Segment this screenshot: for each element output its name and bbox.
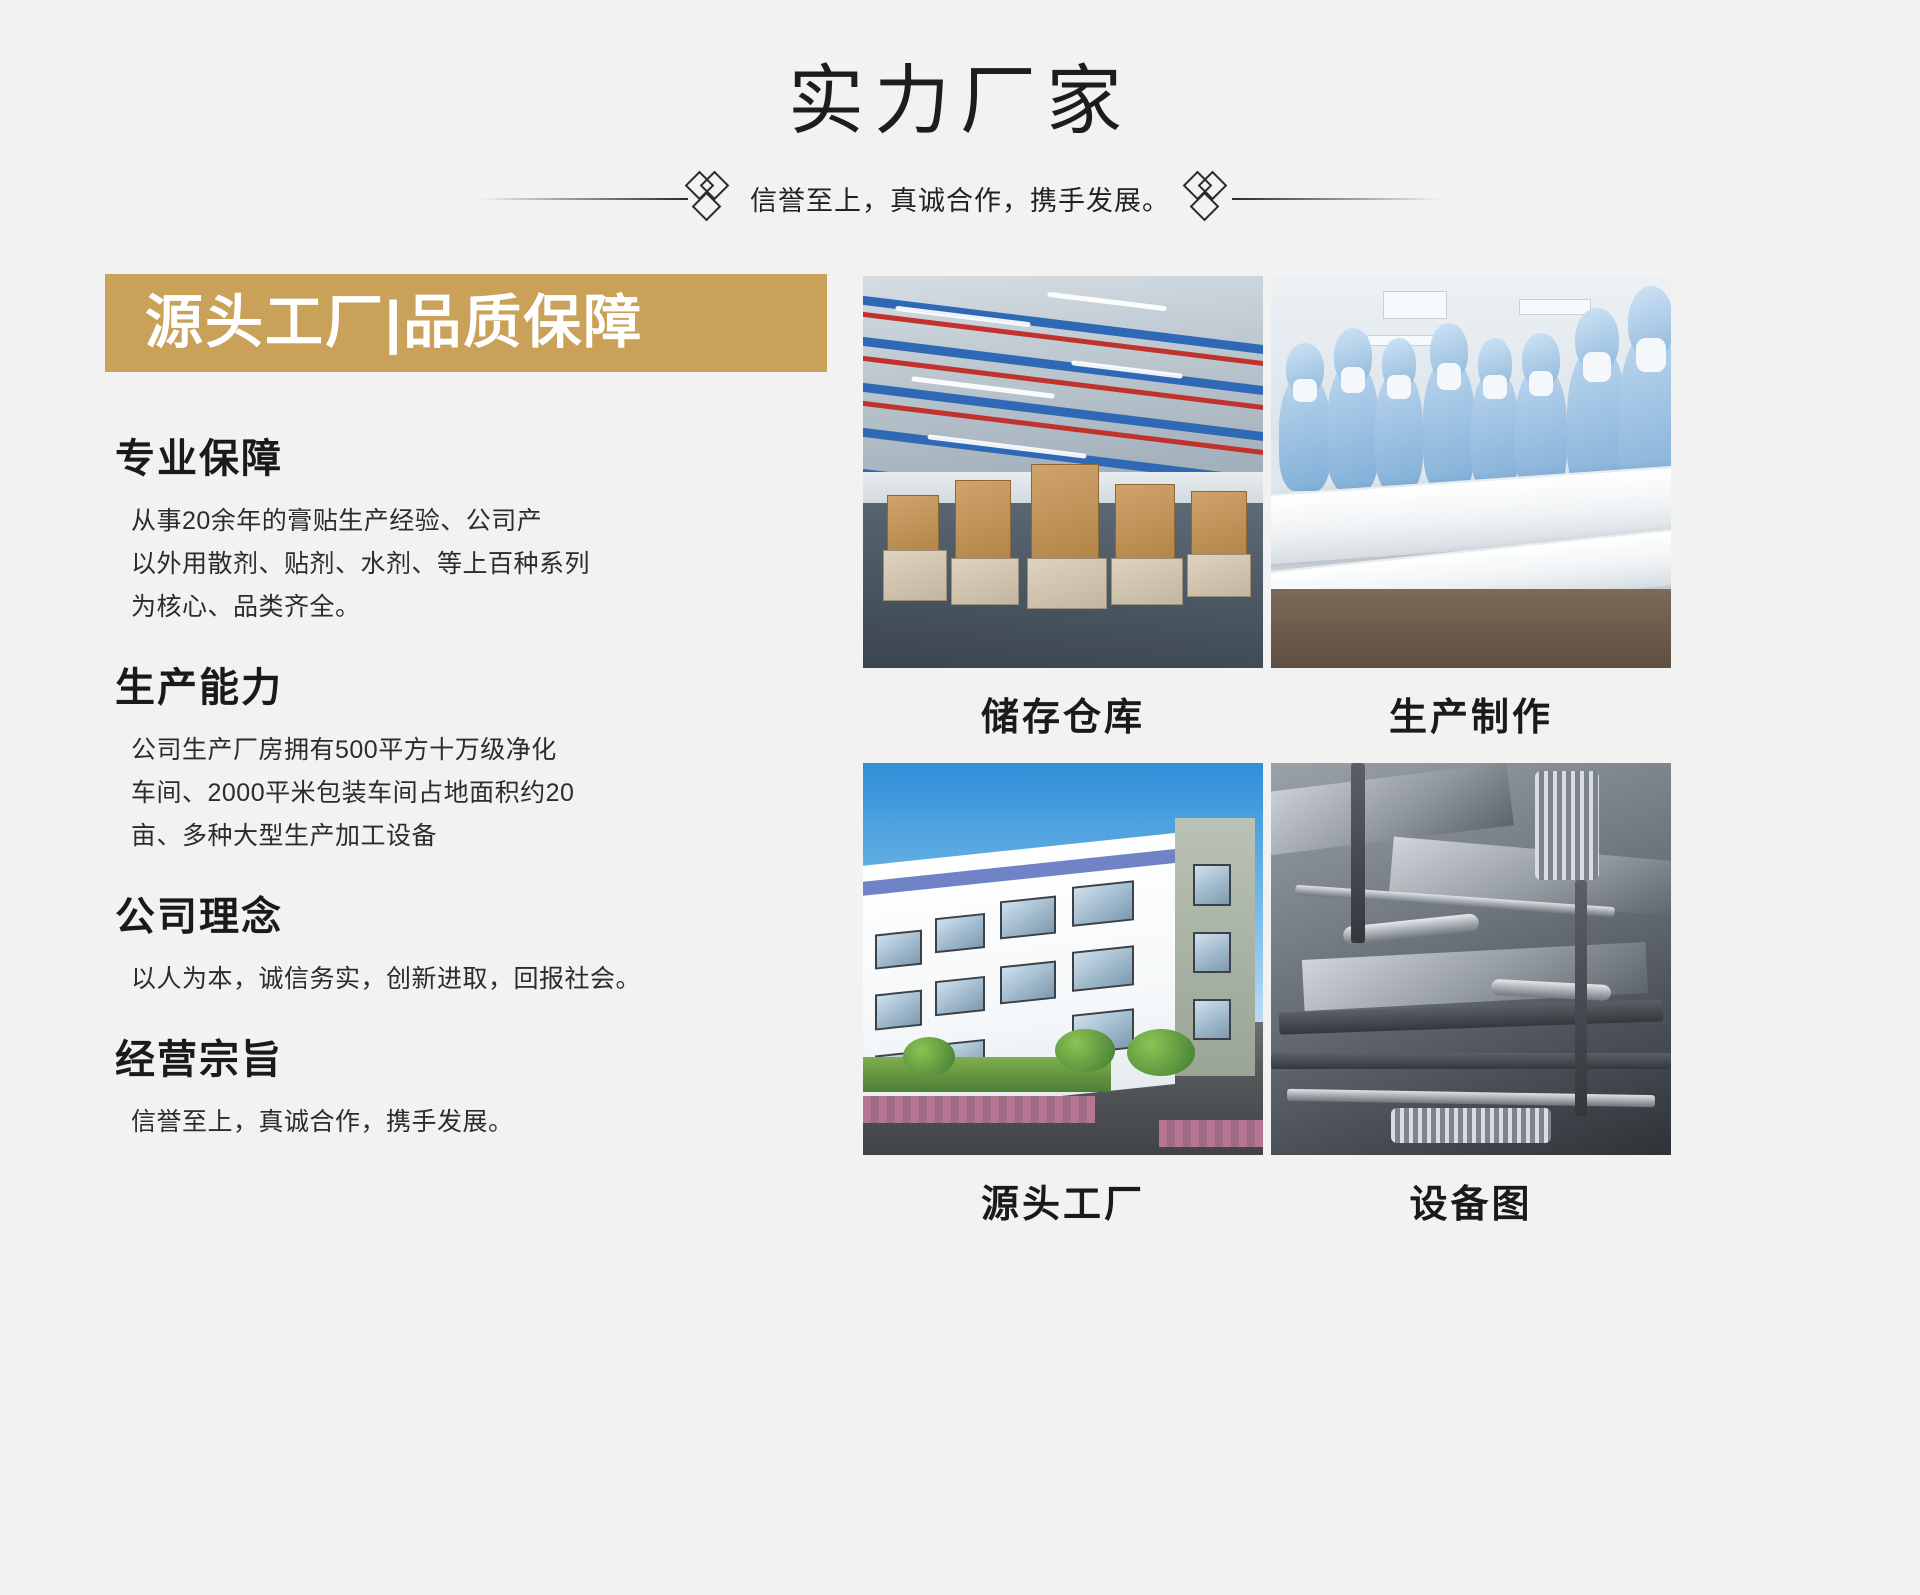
page-title: 实力厂家 (0, 62, 1920, 142)
photo-cell-warehouse: 储存仓库 (863, 276, 1263, 741)
warehouse-photo (863, 276, 1263, 668)
page-header: 实力厂家 信誉至上，真诚合作，携手发展。 (0, 0, 1920, 226)
gold-banner: 源头工厂|品质保障 (105, 274, 827, 372)
divider-right-rule (1232, 198, 1442, 200)
section-line: 从事20余年的膏贴生产经验、公司产 (131, 500, 835, 543)
section-line: 以外用散剂、贴剂、水剂、等上百种系列 (131, 543, 835, 586)
section-body: 信誉至上，真诚合作，携手发展。 (131, 1101, 835, 1144)
divider-left-rule (478, 198, 688, 200)
production-floor (1271, 589, 1671, 667)
section-line: 信誉至上，真诚合作，携手发展。 (131, 1101, 835, 1144)
section-heading: 专业保障 (115, 434, 835, 484)
section-body: 以人为本，诚信务实，创新进取，回报社会。 (131, 958, 835, 1001)
photo-cell-production: 生产制作 (1271, 276, 1671, 741)
section-body: 从事20余年的膏贴生产经验、公司产 以外用散剂、贴剂、水剂、等上百种系列 为核心… (131, 500, 835, 629)
info-section-purpose: 经营宗旨 信誉至上，真诚合作，携手发展。 (105, 1035, 835, 1144)
photo-cell-equipment: 设备图 (1271, 763, 1671, 1228)
promo-page: 实力厂家 信誉至上，真诚合作，携手发展。 源头工厂|品质保障 (0, 0, 1920, 1595)
left-column: 源头工厂|品质保障 专业保障 从事20余年的膏贴生产经验、公司产 以外用散剂、贴… (105, 274, 835, 1228)
section-heading: 经营宗旨 (115, 1035, 835, 1085)
section-line: 公司生产厂房拥有500平方十万级净化 (131, 729, 835, 772)
diamond-cluster-right-icon (1186, 172, 1232, 226)
info-section-professional: 专业保障 从事20余年的膏贴生产经验、公司产 以外用散剂、贴剂、水剂、等上百种系… (105, 434, 835, 629)
photo-caption: 设备图 (1271, 1173, 1671, 1228)
factory-building-photo (863, 763, 1263, 1155)
section-body: 公司生产厂房拥有500平方十万级净化 车间、2000平米包装车间占地面积约20 … (131, 729, 835, 858)
section-heading: 公司理念 (115, 892, 835, 942)
section-line: 车间、2000平米包装车间占地面积约20 (131, 772, 835, 815)
gold-banner-label: 源头工厂|品质保障 (145, 294, 643, 352)
equipment-photo (1271, 763, 1671, 1155)
section-heading: 生产能力 (115, 663, 835, 713)
diamond-cluster-left-icon (688, 172, 734, 226)
section-line: 以人为本，诚信务实，创新进取，回报社会。 (131, 958, 835, 1001)
photo-caption: 生产制作 (1271, 686, 1671, 741)
info-section-philosophy: 公司理念 以人为本，诚信务实，创新进取，回报社会。 (105, 892, 835, 1001)
section-line: 亩、多种大型生产加工设备 (131, 815, 835, 858)
section-line: 为核心、品类齐全。 (131, 586, 835, 629)
info-section-capacity: 生产能力 公司生产厂房拥有500平方十万级净化 车间、2000平米包装车间占地面… (105, 663, 835, 858)
info-sections: 专业保障 从事20余年的膏贴生产经验、公司产 以外用散剂、贴剂、水剂、等上百种系… (105, 434, 835, 1144)
page-body: 源头工厂|品质保障 专业保障 从事20余年的膏贴生产经验、公司产 以外用散剂、贴… (0, 274, 1920, 1228)
right-column: 储存仓库 (835, 274, 1820, 1228)
photo-caption: 储存仓库 (863, 686, 1263, 741)
production-line-photo (1271, 276, 1671, 668)
page-subtitle: 信誉至上，真诚合作，携手发展。 (734, 179, 1186, 218)
photo-cell-building: 源头工厂 (863, 763, 1263, 1228)
photo-caption: 源头工厂 (863, 1173, 1263, 1228)
photo-grid: 储存仓库 (863, 276, 1820, 1228)
subtitle-row: 信誉至上，真诚合作，携手发展。 (0, 172, 1920, 226)
